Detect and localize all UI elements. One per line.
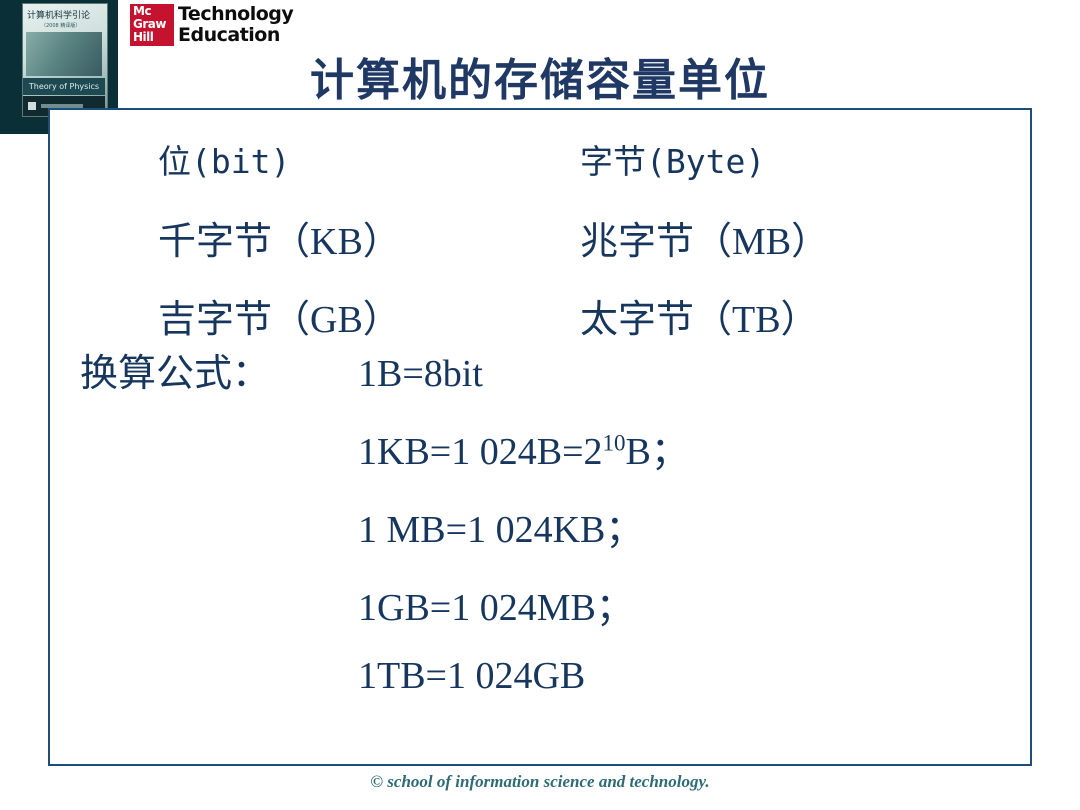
unit-kb: 千字节（KB）	[110, 210, 550, 265]
formula-label: 换算公式：	[68, 342, 358, 397]
page-title: 计算机的存储容量单位	[0, 44, 1080, 108]
unit-bit: 位(bit)	[110, 135, 550, 183]
formula-row: 1GB=1 024MB；	[68, 576, 1008, 654]
book-cover-title: 计算机科学引论	[27, 8, 90, 21]
unit-byte: 字节(Byte)	[550, 135, 970, 183]
formula-line-2-base: 1KB=1 024B=2	[358, 431, 603, 473]
conversion-formula-block: 换算公式： 1B=8bit 1KB=1 024B=210B； 1 MB=1 02…	[68, 342, 1008, 732]
logo-word-line-1: Technology	[178, 4, 293, 25]
formula-line-5: 1TB=1 024GB	[358, 654, 585, 698]
formula-row: 1TB=1 024GB	[68, 654, 1008, 732]
formula-line-4: 1GB=1 024MB；	[358, 576, 634, 631]
footer-credit: © school of information science and tech…	[0, 772, 1080, 792]
formula-line-2-tail: B；	[626, 431, 689, 473]
logo-wordmark: Technology Education	[178, 4, 293, 46]
content-frame: 位(bit) 字节(Byte) 千字节（KB） 兆字节（MB） 吉字节（GB） …	[48, 108, 1032, 766]
formula-row: 换算公式： 1B=8bit	[68, 342, 1008, 420]
formula-row: 1KB=1 024B=210B；	[68, 420, 1008, 498]
formula-line-3: 1 MB=1 024KB；	[358, 498, 643, 553]
logo-word-line-2: Education	[178, 25, 293, 46]
storage-units-list: 位(bit) 字节(Byte) 千字节（KB） 兆字节（MB） 吉字节（GB） …	[110, 120, 970, 354]
book-cover-subtitle: （2008 精译版）	[41, 22, 80, 29]
mcgraw-hill-mark-icon: Mc Graw Hill	[130, 4, 174, 46]
logo-mark-line-3: Hill	[133, 31, 174, 44]
formula-line-2: 1KB=1 024B=210B；	[358, 420, 689, 475]
formula-row: 1 MB=1 024KB；	[68, 498, 1008, 576]
storage-units-row: 千字节（KB） 兆字节（MB）	[110, 198, 970, 276]
formula-line-1-base: 1B=8bit	[358, 353, 483, 395]
unit-gb: 吉字节（GB）	[110, 288, 550, 343]
unit-mb: 兆字节（MB）	[550, 210, 970, 265]
storage-units-row: 位(bit) 字节(Byte)	[110, 120, 970, 198]
formula-line-1: 1B=8bit	[358, 352, 483, 396]
formula-line-2-exponent: 10	[603, 430, 626, 455]
unit-tb: 太字节（TB）	[550, 288, 970, 343]
